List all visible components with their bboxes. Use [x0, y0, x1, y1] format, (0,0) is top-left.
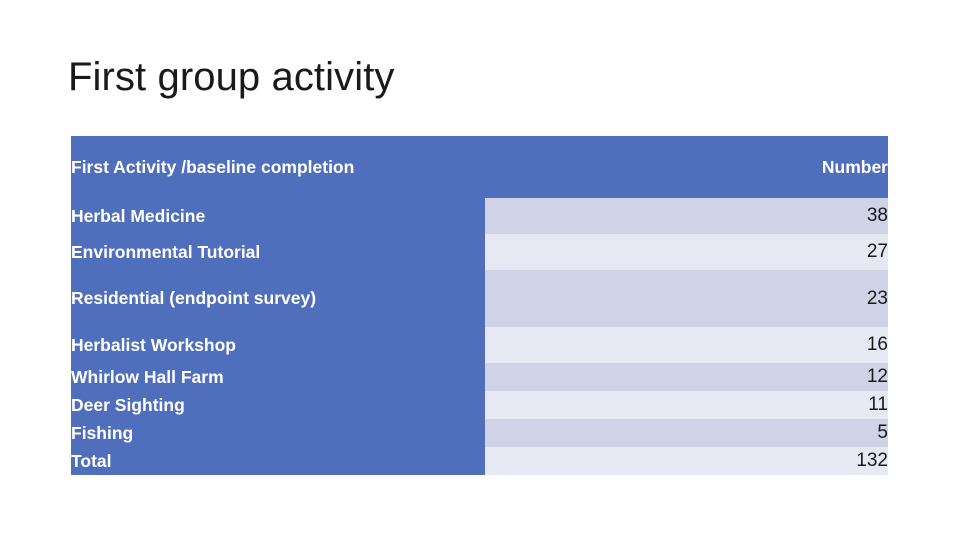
activity-number-cell: 38 — [485, 198, 888, 234]
column-header-number: Number — [485, 136, 888, 198]
activity-label-cell: Residential (endpoint survey) — [71, 270, 485, 327]
activity-label-cell: Total — [71, 447, 485, 475]
activity-number-cell: 11 — [485, 391, 888, 419]
activity-number-cell: 16 — [485, 327, 888, 363]
table-row: Residential (endpoint survey)23 — [71, 270, 888, 327]
activity-label-cell: Herbal Medicine — [71, 198, 485, 234]
activity-label-cell: Whirlow Hall Farm — [71, 363, 485, 391]
page-title: First group activity — [68, 54, 888, 100]
activity-label-cell: Fishing — [71, 419, 485, 447]
table-row: Whirlow Hall Farm12 — [71, 363, 888, 391]
activity-number-cell: 132 — [485, 447, 888, 475]
activity-table: First Activity /baseline completion Numb… — [71, 136, 888, 475]
activity-number-cell: 27 — [485, 234, 888, 270]
table-header-row: First Activity /baseline completion Numb… — [71, 136, 888, 198]
activity-label-cell: Deer Sighting — [71, 391, 485, 419]
table-body: Herbal Medicine38Environmental Tutorial2… — [71, 198, 888, 475]
column-header-activity: First Activity /baseline completion — [71, 136, 485, 198]
activity-label-cell: Environmental Tutorial — [71, 234, 485, 270]
table-header: First Activity /baseline completion Numb… — [71, 136, 888, 198]
table-row: Herbalist Workshop16 — [71, 327, 888, 363]
activity-number-cell: 5 — [485, 419, 888, 447]
table-row: Environmental Tutorial27 — [71, 234, 888, 270]
table-row: Deer Sighting11 — [71, 391, 888, 419]
table-row: Fishing5 — [71, 419, 888, 447]
table-row: Herbal Medicine38 — [71, 198, 888, 234]
activity-label-cell: Herbalist Workshop — [71, 327, 485, 363]
table-row: Total132 — [71, 447, 888, 475]
slide-canvas: First group activity First Activity /bas… — [0, 0, 960, 540]
activity-number-cell: 23 — [485, 270, 888, 327]
activity-number-cell: 12 — [485, 363, 888, 391]
